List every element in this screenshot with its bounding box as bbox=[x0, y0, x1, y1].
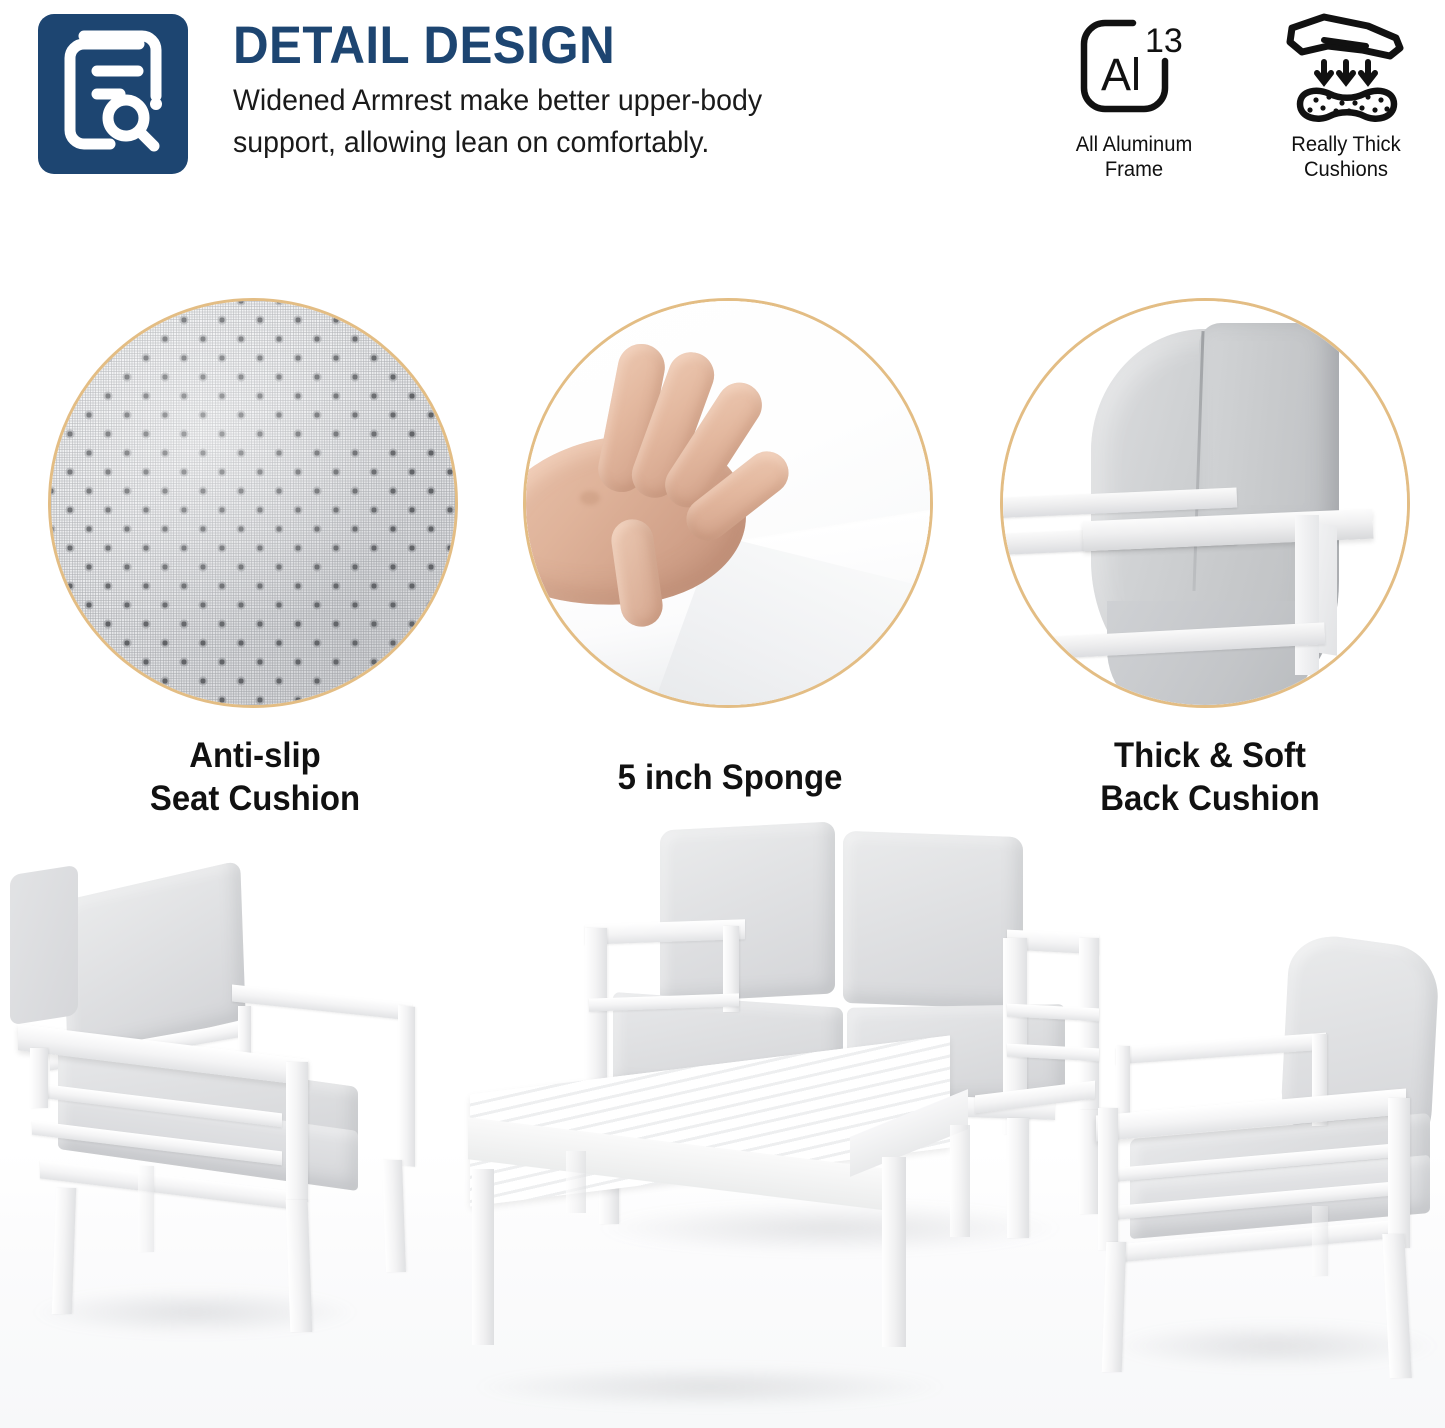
frame-arm-post-rear bbox=[1388, 1098, 1410, 1248]
back-cushion-right bbox=[843, 831, 1023, 1009]
anti-slip-fabric-closeup bbox=[48, 298, 458, 708]
feature-photo-row bbox=[0, 296, 1445, 716]
aluminum-element-icon: Al 13 bbox=[1059, 10, 1209, 130]
back-cushion-left bbox=[660, 821, 835, 1002]
caption-line-1: 5 inch Sponge bbox=[523, 757, 937, 800]
frame-armrest-far-post bbox=[1116, 1046, 1130, 1116]
leg-front-right bbox=[286, 1200, 313, 1332]
frame-arm-post-front bbox=[30, 1048, 48, 1108]
caption-sponge: 5 inch Sponge bbox=[523, 757, 937, 800]
header-subtitle-line-1: Widened Armrest make better upper-body bbox=[233, 81, 841, 122]
frame-far-post bbox=[398, 1005, 415, 1167]
header-section: DETAIL DESIGN Widened Armrest make bette… bbox=[0, 0, 1445, 210]
caption-line-1: Anti-slip bbox=[86, 735, 424, 778]
coffee-table bbox=[450, 1065, 995, 1395]
hand-pressing-cushion-icon bbox=[1271, 10, 1421, 130]
badge-label-line-1: All Aluminum bbox=[1062, 132, 1206, 159]
leg-rear-right bbox=[382, 1160, 406, 1272]
hand-graphic bbox=[523, 341, 818, 641]
table-shadow bbox=[470, 1365, 950, 1409]
fabric-shading bbox=[51, 301, 455, 705]
back-cushion-frame-closeup bbox=[1000, 298, 1410, 708]
back-cushion-lower bbox=[1107, 601, 1317, 708]
table-leg-front-left bbox=[472, 1169, 494, 1345]
header-text-block: DETAIL DESIGN Widened Armrest make bette… bbox=[233, 18, 873, 164]
badge-label-line-2: Frame bbox=[1062, 157, 1206, 184]
frame-post bbox=[1295, 515, 1319, 675]
frame-armrest-far bbox=[232, 985, 412, 1021]
feature-badges: Al 13 All Aluminum Frame bbox=[1059, 10, 1421, 184]
table-leg-rear-right bbox=[950, 1125, 970, 1237]
badge-really-thick-cushions: Really Thick Cushions bbox=[1271, 10, 1421, 184]
frame-arm-post-front bbox=[1098, 1108, 1118, 1250]
back-cushion-side bbox=[10, 865, 78, 1026]
page-title: DETAIL DESIGN bbox=[233, 18, 828, 74]
svg-text:Al: Al bbox=[1101, 49, 1141, 100]
table-leg-rear-left bbox=[566, 1151, 586, 1213]
caption-back-cushion: Thick & Soft Back Cushion bbox=[1013, 735, 1408, 820]
outdoor-patio-furniture-set bbox=[0, 810, 1445, 1428]
caption-anti-slip: Anti-slip Seat Cushion bbox=[86, 735, 424, 820]
leg-rear-left bbox=[138, 1166, 154, 1252]
table-leg-front-right bbox=[882, 1157, 906, 1347]
leg-right-front bbox=[1007, 1118, 1029, 1238]
frame-arm-post-rear bbox=[286, 1062, 308, 1202]
hand-pressing-sponge-closeup bbox=[523, 298, 933, 708]
badge-all-aluminum-frame: Al 13 All Aluminum Frame bbox=[1059, 10, 1209, 184]
leg-rear bbox=[1312, 1206, 1328, 1276]
badge-label-line-1: Really Thick bbox=[1274, 132, 1418, 159]
armchair-left bbox=[10, 870, 430, 1350]
infographic-page: DETAIL DESIGN Widened Armrest make bette… bbox=[0, 0, 1445, 1428]
badge-label-line-2: Cushions bbox=[1274, 157, 1418, 184]
document-search-icon bbox=[38, 14, 188, 174]
armchair-right bbox=[1080, 930, 1445, 1400]
svg-text:13: 13 bbox=[1145, 22, 1183, 60]
hand-knuckle bbox=[580, 491, 600, 505]
caption-line-1: Thick & Soft bbox=[1013, 735, 1408, 778]
header-subtitle-line-2: support, allowing lean on comfortably. bbox=[233, 123, 841, 164]
